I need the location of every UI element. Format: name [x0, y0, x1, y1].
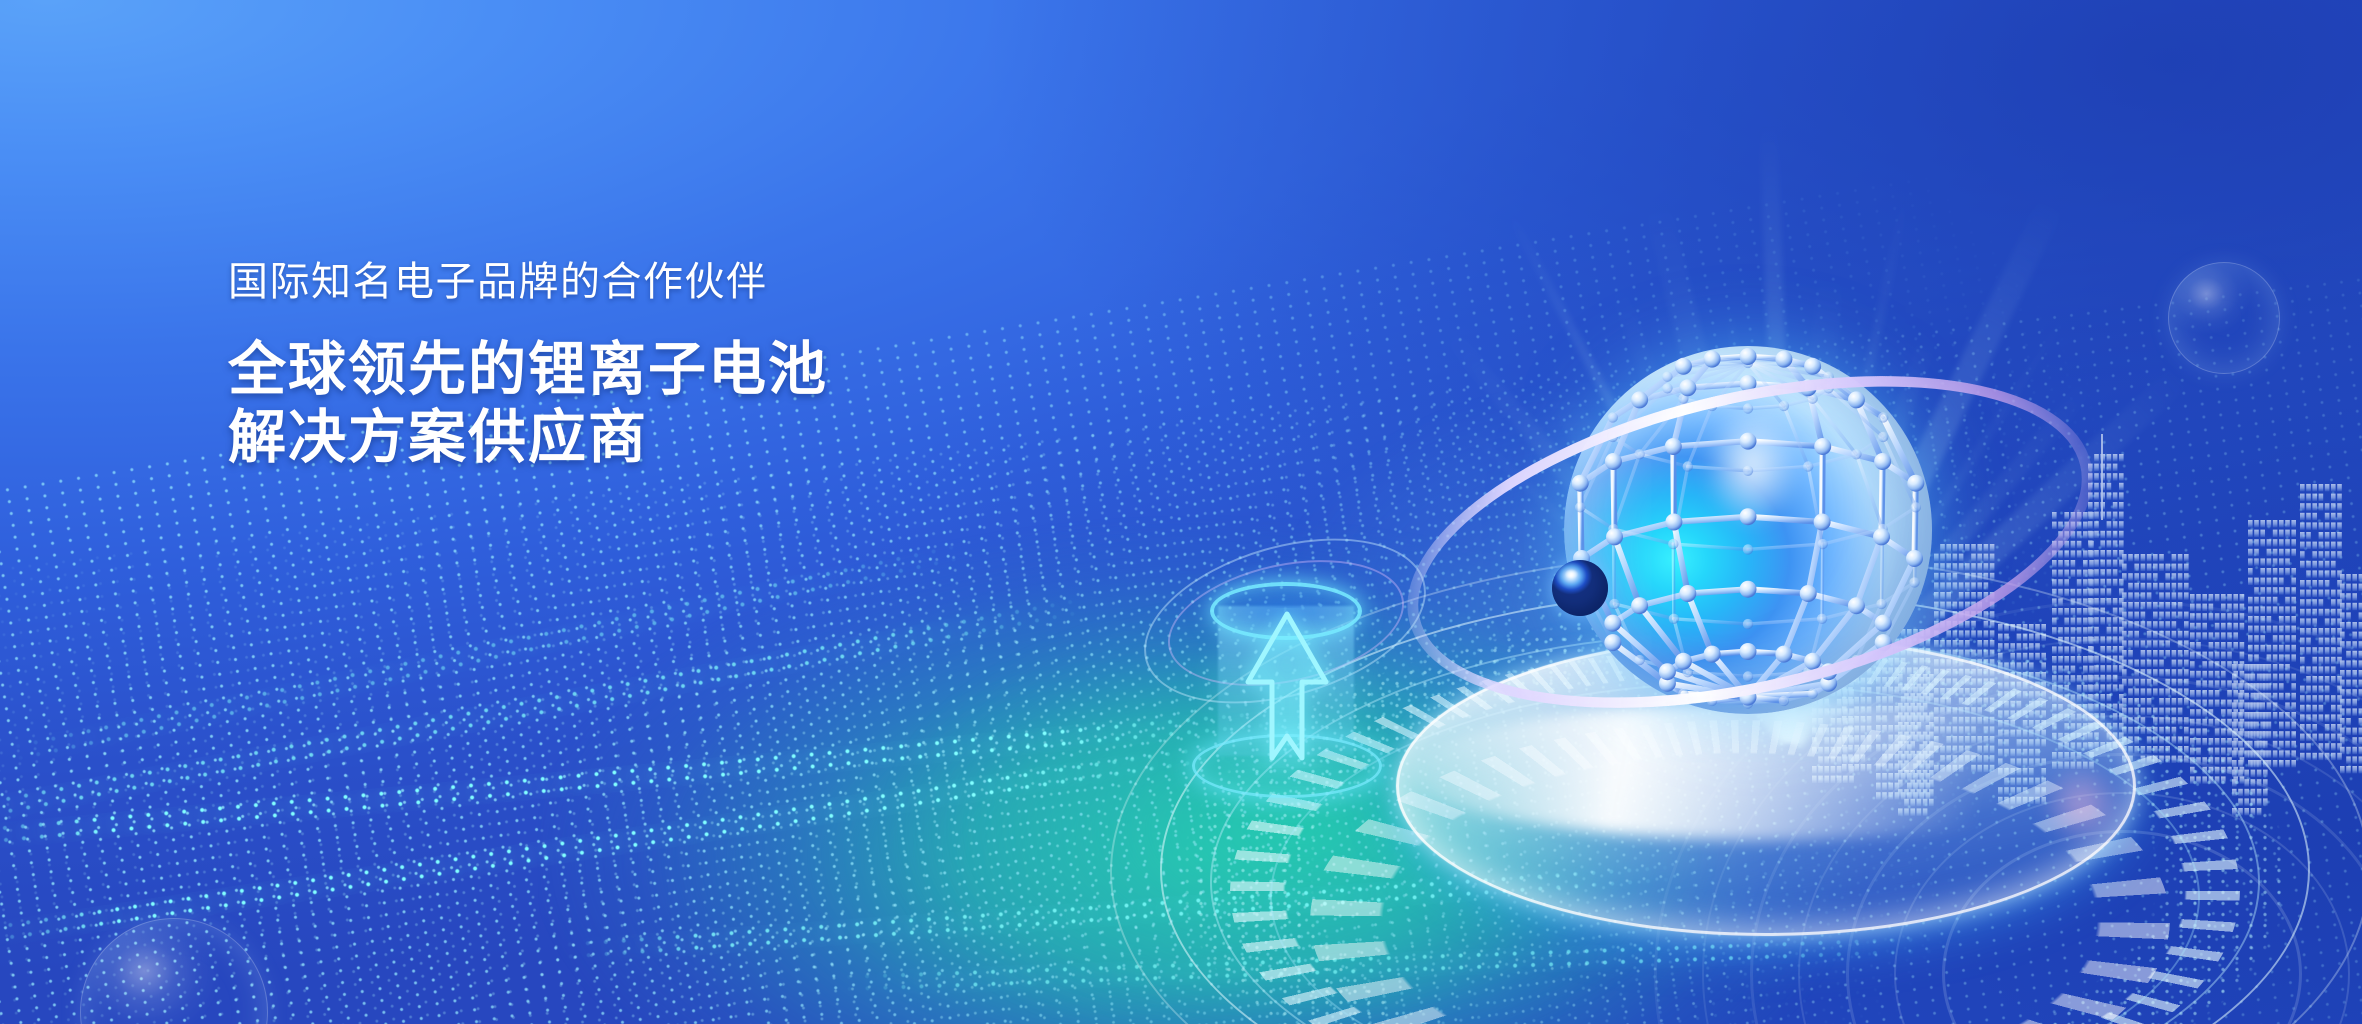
upward-arrow-portal	[1196, 588, 1376, 788]
wireframe-globe	[1548, 330, 1948, 730]
hero-banner: 国际知名电子品牌的合作伙伴 全球领先的锂离子电池 解决方案供应商	[0, 0, 2362, 1024]
hero-eyebrow: 国际知名电子品牌的合作伙伴	[228, 262, 828, 302]
hero-headline-line1: 全球领先的锂离子电池	[228, 336, 828, 404]
bubble-right	[2168, 262, 2280, 374]
arrow-up-icon	[1240, 608, 1335, 768]
hero-headline-line2: 解决方案供应商	[228, 404, 828, 472]
hero-copy: 国际知名电子品牌的合作伙伴 全球领先的锂离子电池 解决方案供应商	[228, 262, 828, 473]
